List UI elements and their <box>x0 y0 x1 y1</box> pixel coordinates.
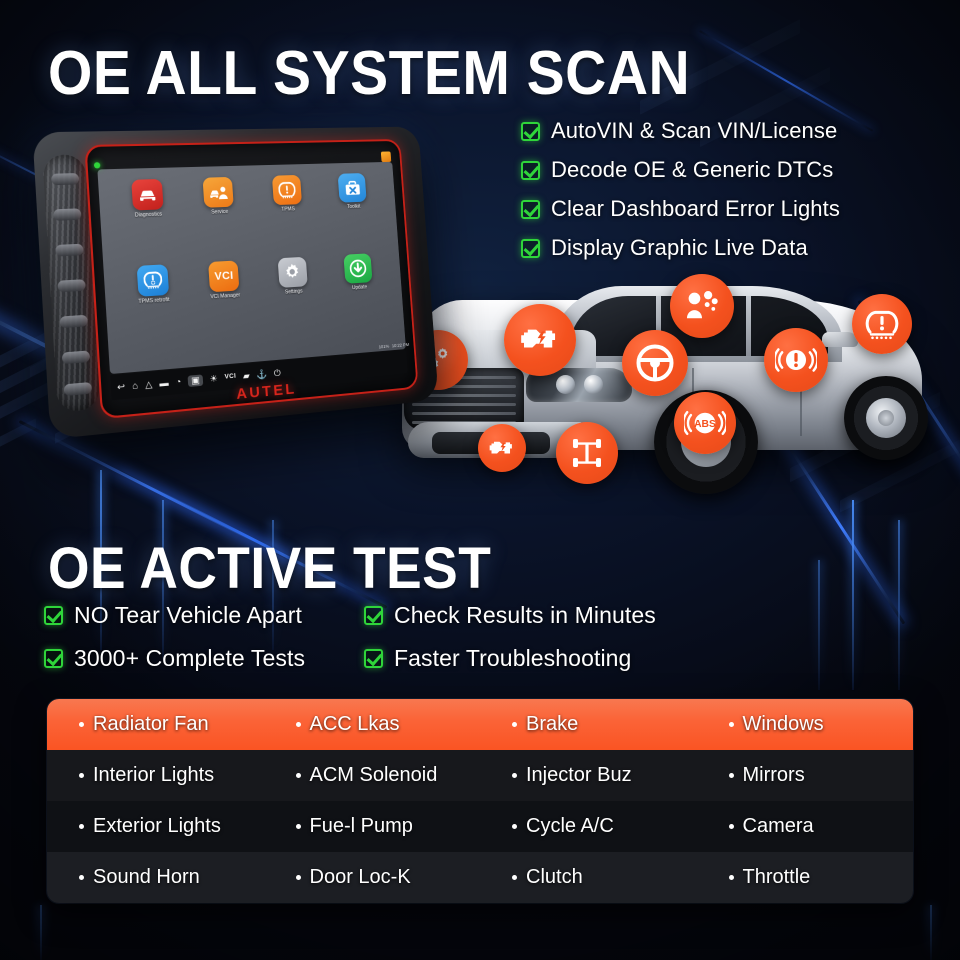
bullet-icon <box>512 824 517 829</box>
table-row: Radiator Fan ACC Lkas Brake Windows <box>47 699 913 750</box>
tablet-screen: Diagnostics Service TPMS <box>97 162 406 374</box>
table-cell: Sound Horn <box>47 866 264 889</box>
app-settings[interactable]: Settings <box>259 255 330 340</box>
app-label: Settings <box>285 288 303 295</box>
toolbox-icon <box>338 173 367 203</box>
app-tpms[interactable]: TPMS <box>253 174 324 256</box>
table-cell: Clutch <box>480 866 697 889</box>
suspension-icon[interactable] <box>556 422 618 484</box>
steering-eps-icon[interactable] <box>622 330 688 396</box>
table-cell: ACM Solenoid <box>264 764 481 787</box>
bullet-icon <box>729 773 734 778</box>
cell-label: Camera <box>743 815 814 838</box>
list-item: Decode OE & Generic DTCs <box>521 157 840 183</box>
table-cell: Mirrors <box>697 764 914 787</box>
tire-plus-icon <box>136 264 169 297</box>
list-item: AutoVIN & Scan VIN/License <box>521 118 840 144</box>
folder-icon[interactable]: ▬ <box>159 378 169 388</box>
tablet-housing: Diagnostics Service TPMS <box>32 127 438 440</box>
bullet-icon <box>512 875 517 880</box>
app-label: Toolkit <box>347 204 361 210</box>
check-icon <box>44 649 63 668</box>
cell-label: Exterior Lights <box>93 815 221 838</box>
table-cell: Door Loc-K <box>264 866 481 889</box>
cell-label: Windows <box>743 713 824 736</box>
abs-icon[interactable]: ABS <box>674 392 736 454</box>
bullet-icon <box>296 875 301 880</box>
table-row: Sound Horn Door Loc-K Clutch Throttle <box>47 852 913 903</box>
app-label: VCI Manager <box>210 292 240 300</box>
table-cell: ACC Lkas <box>264 713 481 736</box>
app-label: Diagnostics <box>135 211 163 218</box>
bullet-icon <box>79 722 84 727</box>
app-label: TPMS retrofit <box>138 296 170 304</box>
check-icon <box>44 606 63 625</box>
bullet-icon <box>512 773 517 778</box>
feature-label: Check Results in Minutes <box>394 602 656 629</box>
app-grid: Diagnostics Service TPMS <box>104 170 399 355</box>
brightness-icon[interactable]: ☀ <box>209 374 218 384</box>
bullet-icon <box>79 875 84 880</box>
active-test-feature-list: NO Tear Vehicle Apart Check Results in M… <box>44 602 656 672</box>
car-rear-wheel <box>844 376 928 460</box>
active-test-table: Radiator Fan ACC Lkas Brake Windows Inte… <box>47 699 913 903</box>
table-cell: Injector Buz <box>480 764 697 787</box>
feature-label: Decode OE & Generic DTCs <box>551 157 833 183</box>
check-icon <box>521 161 540 180</box>
engine-icon[interactable] <box>504 304 576 376</box>
table-cell: Brake <box>480 713 697 736</box>
gear-icon <box>277 256 307 287</box>
download-icon <box>344 253 373 283</box>
table-row: Interior Lights ACM Solenoid Injector Bu… <box>47 750 913 801</box>
cell-label: Cycle A/C <box>526 815 614 838</box>
camera-icon[interactable]: ▣ <box>188 374 203 387</box>
table-cell: Fue-l Pump <box>264 815 481 838</box>
warning-badge-icon <box>381 151 391 162</box>
airbag-srs-icon[interactable] <box>670 274 734 338</box>
tablet-bezel: Diagnostics Service TPMS <box>84 139 418 419</box>
power-icon[interactable]: ⏻ <box>274 368 281 378</box>
list-item: 3000+ Complete Tests <box>44 645 364 672</box>
home-icon[interactable]: ⌂ <box>132 381 138 391</box>
cell-label: ACC Lkas <box>310 713 400 736</box>
check-icon <box>521 122 540 141</box>
list-item: NO Tear Vehicle Apart <box>44 602 364 629</box>
recents-icon[interactable]: △ <box>145 379 153 389</box>
tpms-icon[interactable] <box>852 294 912 354</box>
svg-text:ABS: ABS <box>694 419 716 430</box>
cell-label: Clutch <box>526 866 583 889</box>
table-row: Exterior Lights Fue-l Pump Cycle A/C Cam… <box>47 801 913 852</box>
table-cell: Exterior Lights <box>47 815 264 838</box>
list-item: Check Results in Minutes <box>364 602 656 629</box>
app-toolkit[interactable]: Toolkit <box>320 172 388 253</box>
list-item: Clear Dashboard Error Lights <box>521 196 840 222</box>
clock-icon[interactable]: ◔ <box>175 377 181 387</box>
diagnostic-tablet: Diagnostics Service TPMS <box>46 128 446 418</box>
table-cell: Throttle <box>697 866 914 889</box>
list-item: Display Graphic Live Data <box>521 235 840 261</box>
cell-label: Throttle <box>743 866 811 889</box>
status-led-icon <box>94 162 101 168</box>
bullet-icon <box>79 773 84 778</box>
cell-label: Mirrors <box>743 764 805 787</box>
bullet-icon <box>512 722 517 727</box>
car-side-mirror <box>822 332 858 347</box>
scan-feature-list: AutoVIN & Scan VIN/License Decode OE & G… <box>521 118 840 261</box>
cell-label: Injector Buz <box>526 764 632 787</box>
cell-label: Door Loc-K <box>310 866 411 889</box>
app-diagnostics[interactable]: Diagnostics <box>111 178 187 264</box>
vcl-icon[interactable]: VCI <box>224 373 236 381</box>
table-cell: Radiator Fan <box>47 713 264 736</box>
cell-label: Brake <box>526 713 578 736</box>
table-cell: Windows <box>697 713 914 736</box>
bullet-icon <box>296 824 301 829</box>
check-icon <box>521 200 540 219</box>
feature-label: 3000+ Complete Tests <box>74 645 305 672</box>
bullet-icon <box>729 722 734 727</box>
bullet-icon <box>296 773 301 778</box>
table-cell: Camera <box>697 815 914 838</box>
feature-label: Display Graphic Live Data <box>551 235 808 261</box>
page-title-active-test: OE ACTIVE TEST <box>48 535 491 602</box>
cell-label: ACM Solenoid <box>310 764 438 787</box>
cell-label: Radiator Fan <box>93 713 209 736</box>
feature-label: NO Tear Vehicle Apart <box>74 602 302 629</box>
feature-label: AutoVIN & Scan VIN/License <box>551 118 837 144</box>
check-icon <box>364 649 383 668</box>
bullet-icon <box>296 722 301 727</box>
back-icon[interactable]: ↩ <box>117 382 125 392</box>
vci-icon: VCI <box>208 260 239 292</box>
app-label: TPMS <box>281 206 295 212</box>
tire-icon <box>272 175 302 205</box>
check-icon <box>521 239 540 258</box>
app-tpms-retrofit[interactable]: TPMS retrofit <box>116 263 192 351</box>
engine-small-icon[interactable] <box>478 424 526 472</box>
table-cell: Interior Lights <box>47 764 264 787</box>
car-icon <box>131 179 163 211</box>
clock-label: 10:22 PM <box>392 342 410 348</box>
app-service[interactable]: Service <box>183 176 256 260</box>
cell-label: Fue-l Pump <box>310 815 413 838</box>
feature-label: Clear Dashboard Error Lights <box>551 196 840 222</box>
cell-label: Interior Lights <box>93 764 214 787</box>
feature-label: Faster Troubleshooting <box>394 645 631 672</box>
app-vci-manager[interactable]: VCI VCI Manager <box>189 259 262 345</box>
brake-warning-icon[interactable] <box>764 328 828 392</box>
app-label: Update <box>352 284 368 291</box>
table-cell: Cycle A/C <box>480 815 697 838</box>
bullet-icon <box>79 824 84 829</box>
app-label: Service <box>211 209 228 216</box>
page-title-scan: OE ALL SYSTEM SCAN <box>48 38 690 109</box>
battery-label: 101% <box>378 344 389 350</box>
cell-label: Sound Horn <box>93 866 200 889</box>
network-icon[interactable]: ⚓ <box>256 369 267 379</box>
vehicle-illustration: ABS <box>392 272 952 522</box>
list-item: Faster Troubleshooting <box>364 645 656 672</box>
service-icon <box>203 177 234 208</box>
bullet-icon <box>729 875 734 880</box>
bullet-icon <box>729 824 734 829</box>
vehicle-icon[interactable]: ▰ <box>243 371 250 381</box>
check-icon <box>364 606 383 625</box>
app-update[interactable]: Update <box>326 252 394 335</box>
